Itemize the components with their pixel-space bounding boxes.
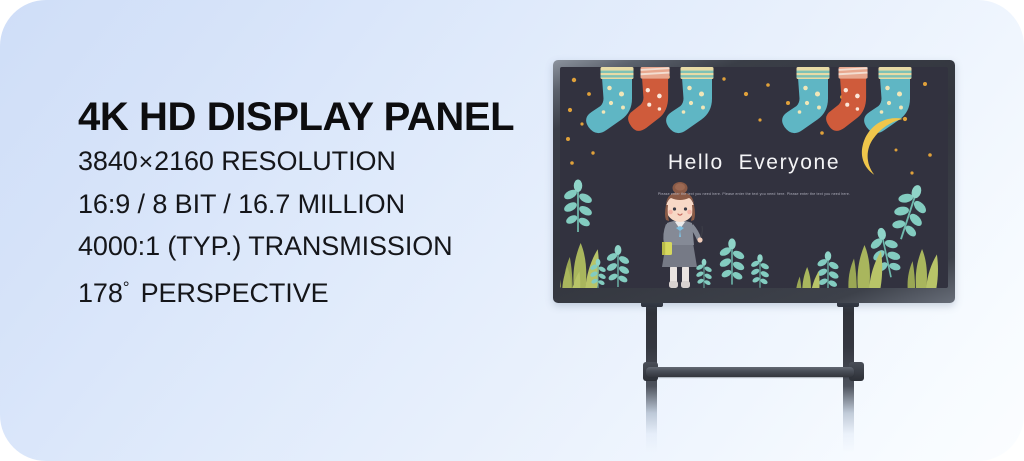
product-copy-block: 4K HD DISPLAY PANEL 3840×2160 RESOLUTION… [78, 94, 548, 314]
stand-crossbar [646, 367, 854, 377]
grass-right-1 [848, 245, 882, 288]
grass-right-2 [908, 249, 938, 288]
plant-center-sprig [718, 238, 745, 284]
plant-right-sprig-lower [816, 251, 839, 288]
spec-viewing-angle-label: PERSPECTIVE [141, 278, 329, 308]
display-bezel: Hello Everyone Please enter the text you… [553, 60, 955, 303]
stocking-right-2 [826, 67, 867, 131]
display-panel-assembly: Hello Everyone Please enter the text you… [553, 60, 955, 456]
plant-right-sprig-mid [866, 225, 905, 280]
spec-contrast-ratio: 4000:1 (TYP.) TRANSMISSION [78, 225, 548, 267]
plant-left-sprig-upper [563, 180, 594, 233]
stocking-left-3 [666, 67, 713, 133]
screen-subtext: Please enter the text you need here. Ple… [560, 191, 948, 198]
plant-left-sprig-lower [606, 245, 631, 287]
screen-artwork [560, 67, 948, 288]
degree-icon: ° [123, 278, 130, 297]
spec-resolution-width: 3840 [78, 146, 138, 176]
stocking-left-2 [628, 67, 669, 131]
stocking-right-1 [782, 67, 829, 133]
screen-heading: Hello Everyone [560, 151, 948, 175]
plant-center-sprig-right [750, 254, 770, 288]
display-screen[interactable]: Hello Everyone Please enter the text you… [560, 67, 948, 288]
banner-card: 4K HD DISPLAY PANEL 3840×2160 RESOLUTION… [0, 0, 1024, 461]
banner-root: 4K HD DISPLAY PANEL 3840×2160 RESOLUTION… [0, 0, 1024, 461]
spec-viewing-angle: 178°PERSPECTIVE [78, 267, 548, 314]
plant-right-sprig-upper [885, 180, 934, 244]
stocking-left-1 [586, 67, 633, 133]
multiply-icon: × [138, 148, 155, 176]
page-title: 4K HD DISPLAY PANEL [78, 94, 548, 140]
spec-viewing-angle-value: 178 [78, 278, 123, 308]
spec-resolution: 3840×2160 RESOLUTION [78, 140, 548, 183]
spec-resolution-height-label: 2160 RESOLUTION [154, 146, 396, 176]
plant-center-sprig-small [695, 259, 712, 288]
grass-bottom-right [796, 267, 820, 288]
spec-color-depth: 16:9 / 8 BIT / 16.7 MILLION [78, 183, 548, 225]
